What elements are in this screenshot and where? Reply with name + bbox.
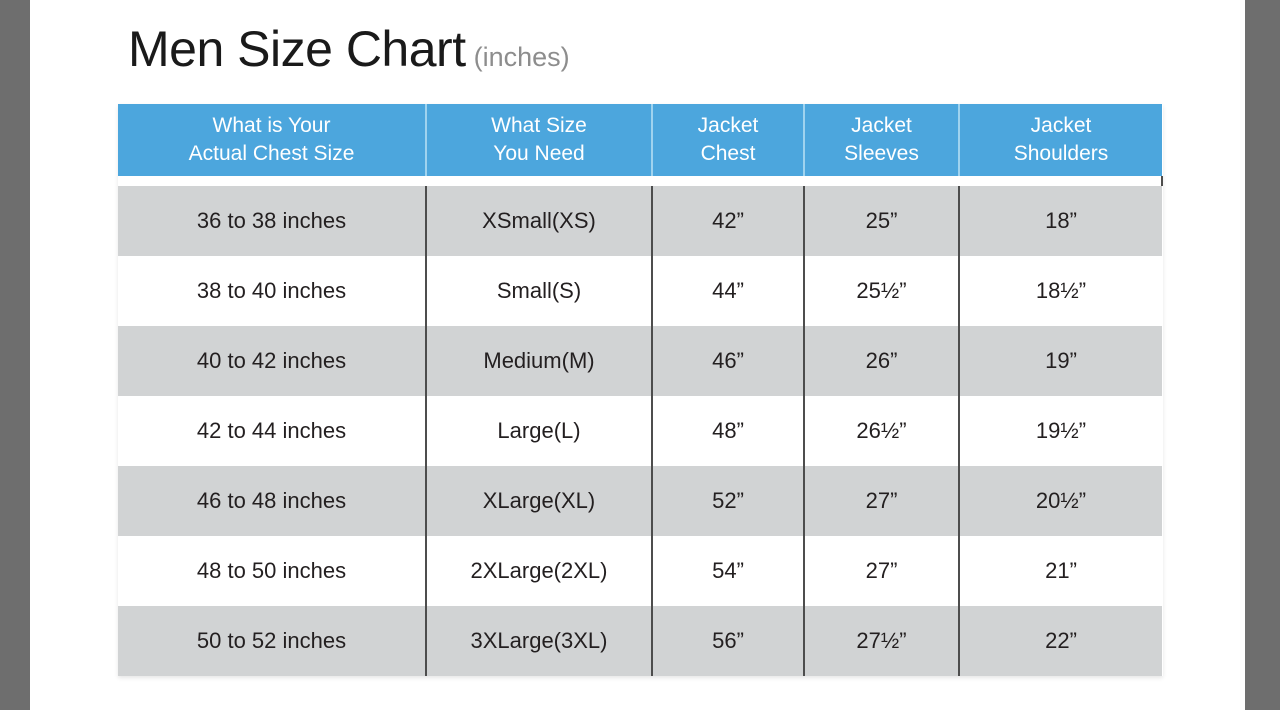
page-title-unit-note: (inches) — [474, 42, 570, 72]
size-chart-table-wrapper: What is Your Actual Chest Size What Size… — [118, 104, 1162, 676]
cell-jacket-shoulders: 21” — [959, 536, 1162, 606]
cell-jacket-chest: 56” — [652, 606, 804, 676]
cell-size-needed: Small(S) — [426, 256, 652, 326]
cell-jacket-shoulders: 19½” — [959, 396, 1162, 466]
cell-size-needed: XLarge(XL) — [426, 466, 652, 536]
cell-chest-range: 48 to 50 inches — [118, 536, 426, 606]
column-header-size-needed: What Size You Need — [426, 104, 652, 176]
cell-jacket-sleeves: 27” — [804, 466, 959, 536]
chart-content-area: Men Size Chart(inches) What is Your Actu… — [30, 0, 1245, 710]
column-header-line1: What Size — [491, 114, 587, 137]
cell-jacket-chest: 54” — [652, 536, 804, 606]
cell-size-needed: Large(L) — [426, 396, 652, 466]
cell-chest-range: 50 to 52 inches — [118, 606, 426, 676]
header-body-gap-cell — [118, 176, 1162, 186]
screenshot-root: Men Size Chart(inches) What is Your Actu… — [0, 0, 1280, 710]
page-title: Men Size Chart(inches) — [128, 20, 570, 78]
column-header-line2: Actual Chest Size — [189, 142, 355, 165]
cell-jacket-chest: 48” — [652, 396, 804, 466]
table-header: What is Your Actual Chest Size What Size… — [118, 104, 1162, 176]
column-header-line1: What is Your — [213, 114, 331, 137]
cell-jacket-shoulders: 22” — [959, 606, 1162, 676]
cell-jacket-chest: 46” — [652, 326, 804, 396]
table-row: 48 to 50 inches 2XLarge(2XL) 54” 27” 21” — [118, 536, 1162, 606]
table-row: 36 to 38 inches XSmall(XS) 42” 25” 18” — [118, 186, 1162, 256]
size-chart-table: What is Your Actual Chest Size What Size… — [118, 104, 1163, 676]
cell-chest-range: 40 to 42 inches — [118, 326, 426, 396]
column-header-line2: Shoulders — [1014, 142, 1109, 165]
cell-jacket-sleeves: 27½” — [804, 606, 959, 676]
column-header-line2: You Need — [493, 142, 584, 165]
cell-chest-range: 46 to 48 inches — [118, 466, 426, 536]
table-row: 46 to 48 inches XLarge(XL) 52” 27” 20½” — [118, 466, 1162, 536]
column-header-line2: Sleeves — [844, 142, 919, 165]
cell-chest-range: 38 to 40 inches — [118, 256, 426, 326]
table-row: 50 to 52 inches 3XLarge(3XL) 56” 27½” 22… — [118, 606, 1162, 676]
header-body-gap — [118, 176, 1162, 186]
column-header-jacket-shoulders: Jacket Shoulders — [959, 104, 1162, 176]
column-header-chest-range: What is Your Actual Chest Size — [118, 104, 426, 176]
cell-jacket-sleeves: 25½” — [804, 256, 959, 326]
cell-size-needed: XSmall(XS) — [426, 186, 652, 256]
cell-size-needed: Medium(M) — [426, 326, 652, 396]
cell-jacket-sleeves: 27” — [804, 536, 959, 606]
cell-jacket-shoulders: 18½” — [959, 256, 1162, 326]
cell-chest-range: 42 to 44 inches — [118, 396, 426, 466]
table-row: 42 to 44 inches Large(L) 48” 26½” 19½” — [118, 396, 1162, 466]
cell-chest-range: 36 to 38 inches — [118, 186, 426, 256]
column-header-jacket-sleeves: Jacket Sleeves — [804, 104, 959, 176]
letterbox-bar-right — [1245, 0, 1280, 710]
cell-jacket-shoulders: 19” — [959, 326, 1162, 396]
cell-jacket-chest: 44” — [652, 256, 804, 326]
table-header-row: What is Your Actual Chest Size What Size… — [118, 104, 1162, 176]
table-row: 38 to 40 inches Small(S) 44” 25½” 18½” — [118, 256, 1162, 326]
column-header-jacket-chest: Jacket Chest — [652, 104, 804, 176]
column-header-line2: Chest — [701, 142, 756, 165]
cell-jacket-chest: 52” — [652, 466, 804, 536]
column-header-line1: Jacket — [698, 114, 759, 137]
column-header-line1: Jacket — [851, 114, 912, 137]
cell-jacket-sleeves: 26” — [804, 326, 959, 396]
table-body: 36 to 38 inches XSmall(XS) 42” 25” 18” 3… — [118, 176, 1162, 676]
cell-jacket-sleeves: 26½” — [804, 396, 959, 466]
cell-size-needed: 2XLarge(2XL) — [426, 536, 652, 606]
cell-jacket-chest: 42” — [652, 186, 804, 256]
letterbox-bar-left — [0, 0, 30, 710]
cell-size-needed: 3XLarge(3XL) — [426, 606, 652, 676]
cell-jacket-sleeves: 25” — [804, 186, 959, 256]
cell-jacket-shoulders: 20½” — [959, 466, 1162, 536]
page-title-main: Men Size Chart — [128, 21, 466, 77]
cell-jacket-shoulders: 18” — [959, 186, 1162, 256]
table-row: 40 to 42 inches Medium(M) 46” 26” 19” — [118, 326, 1162, 396]
column-header-line1: Jacket — [1031, 114, 1092, 137]
